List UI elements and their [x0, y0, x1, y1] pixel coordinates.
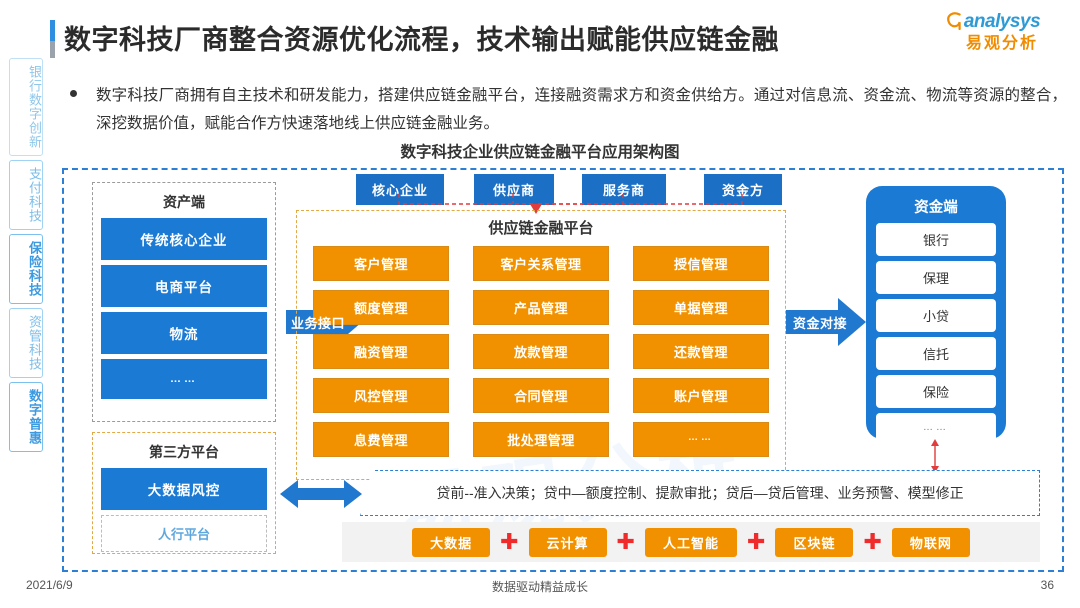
footer-slogan: 数据驱动精益成长	[0, 578, 1080, 595]
page-footer: 2021/6/9 数据驱动精益成长 36	[0, 576, 1080, 604]
module-loan-disbursement[interactable]: 放款管理	[473, 334, 609, 369]
third-party-bigdata-riskcontrol[interactable]: 大数据风控	[101, 468, 267, 510]
module-crm[interactable]: 客户关系管理	[473, 246, 609, 281]
funding-side-panel: 资金端 银行 保理 小贷 信托 保险 ……	[866, 186, 1006, 439]
business-interface-label: 业务接口	[291, 313, 357, 332]
funding-item-more[interactable]: ……	[876, 413, 996, 442]
module-customer-management[interactable]: 客户管理	[313, 246, 449, 281]
module-account-management[interactable]: 账户管理	[633, 378, 769, 413]
plus-icon-1: ✚	[500, 531, 518, 553]
platform-module-grid: 客户管理 客户关系管理 授信管理 额度管理 产品管理 单据管理 融资管理 放款管…	[297, 246, 785, 457]
funding-item-insurance[interactable]: 保险	[876, 375, 996, 408]
asset-side-panel: 资产端 传统核心企业 电商平台 物流 ……	[92, 182, 276, 422]
tech-chip-cloud-computing[interactable]: 云计算	[529, 528, 607, 557]
chip-capital-provider[interactable]: 资金方	[704, 174, 782, 205]
plus-icon-4: ✚	[863, 531, 881, 553]
module-financing-management[interactable]: 融资管理	[313, 334, 449, 369]
funding-lifecycle-connector	[928, 438, 942, 474]
module-contract-management[interactable]: 合同管理	[473, 378, 609, 413]
module-more[interactable]: ……	[633, 422, 769, 457]
plus-icon-3: ✚	[747, 531, 765, 553]
supply-chain-finance-platform: 供应链金融平台 客户管理 客户关系管理 授信管理 额度管理 产品管理 单据管理 …	[296, 210, 786, 480]
sidebar-item-payment-tech[interactable]: 支付科技	[9, 160, 43, 230]
asset-item-ecommerce-platform[interactable]: 电商平台	[101, 265, 267, 307]
logo-wordmark-en: analysys	[942, 10, 1062, 34]
module-document-management[interactable]: 单据管理	[633, 290, 769, 325]
sidebar-item-asset-management-tech[interactable]: 资管科技	[9, 308, 43, 378]
asset-item-logistics[interactable]: 物流	[101, 312, 267, 354]
figure-subtitle: 数字科技企业供应链金融平台应用架构图	[0, 140, 1080, 162]
bullet-dot-icon	[70, 90, 77, 97]
asset-item-more[interactable]: ……	[101, 359, 267, 399]
summary-bullet: 数字科技厂商拥有自主技术和研发能力，搭建供应链金融平台，连接融资需求方和资金供给…	[62, 82, 1067, 138]
module-risk-control[interactable]: 风控管理	[313, 378, 449, 413]
asset-item-core-enterprise[interactable]: 传统核心企业	[101, 218, 267, 260]
summary-text: 数字科技厂商拥有自主技术和研发能力，搭建供应链金融平台，连接融资需求方和资金供给…	[96, 82, 1067, 138]
analysys-logo: analysys 易观分析	[942, 10, 1062, 62]
title-accent-bar	[50, 20, 55, 58]
tech-chip-iot[interactable]: 物联网	[892, 528, 970, 557]
logo-text-en: analysys	[964, 11, 1040, 32]
page-header: 数字科技厂商整合资源优化流程，技术输出赋能供应链金融 analysys 易观分析	[0, 0, 1080, 68]
funding-connection-label: 资金对接	[793, 313, 859, 332]
sidebar-rail: 银行数字创新 支付科技 保险科技 资管科技 数字普惠	[8, 58, 44, 452]
technology-stack-strip: 大数据 ✚ 云计算 ✚ 人工智能 ✚ 区块链 ✚ 物联网	[342, 522, 1040, 562]
funding-connection-arrow: 资金对接	[786, 297, 866, 347]
module-interest-fee[interactable]: 息费管理	[313, 422, 449, 457]
third-party-panel: 第三方平台 大数据风控 人行平台	[92, 432, 276, 554]
plus-icon-2: ✚	[617, 531, 635, 553]
funding-item-bank[interactable]: 银行	[876, 223, 996, 256]
chip-service-provider[interactable]: 服务商	[582, 174, 666, 205]
third-party-title: 第三方平台	[101, 437, 267, 468]
tech-chip-ai[interactable]: 人工智能	[645, 528, 737, 557]
page-title: 数字科技厂商整合资源优化流程，技术输出赋能供应链金融	[64, 18, 779, 57]
asset-side-title: 资产端	[101, 187, 267, 218]
sidebar-item-digital-inclusive-finance[interactable]: 数字普惠	[9, 382, 43, 452]
logo-text-cn: 易观分析	[942, 34, 1062, 54]
credit-lifecycle-banner: 贷前--准入决策；贷中—额度控制、提款审批；贷后—贷后管理、业务预警、模型修正	[360, 470, 1040, 516]
funding-item-factoring[interactable]: 保理	[876, 261, 996, 294]
chip-supplier[interactable]: 供应商	[474, 174, 554, 205]
module-batch-processing[interactable]: 批处理管理	[473, 422, 609, 457]
funding-item-microloan[interactable]: 小贷	[876, 299, 996, 332]
platform-title: 供应链金融平台	[297, 211, 785, 246]
module-credit-granting[interactable]: 授信管理	[633, 246, 769, 281]
architecture-diagram: 易观分析 资产端 传统核心企业 电商平台 物流 …… 第三方平台 大数据风控 人…	[62, 168, 1064, 572]
logo-swirl-icon	[946, 11, 963, 30]
chip-core-enterprise[interactable]: 核心企业	[356, 174, 444, 205]
module-repayment-management[interactable]: 还款管理	[633, 334, 769, 369]
funding-item-trust[interactable]: 信托	[876, 337, 996, 370]
sidebar-item-insurance-tech[interactable]: 保险科技	[9, 234, 43, 304]
module-product-management[interactable]: 产品管理	[473, 290, 609, 325]
footer-page-number: 36	[1041, 578, 1054, 592]
third-party-pboc-platform[interactable]: 人行平台	[101, 515, 267, 552]
tech-chip-blockchain[interactable]: 区块链	[775, 528, 853, 557]
tech-chip-bigdata[interactable]: 大数据	[412, 528, 490, 557]
funding-side-title: 资金端	[876, 190, 996, 223]
